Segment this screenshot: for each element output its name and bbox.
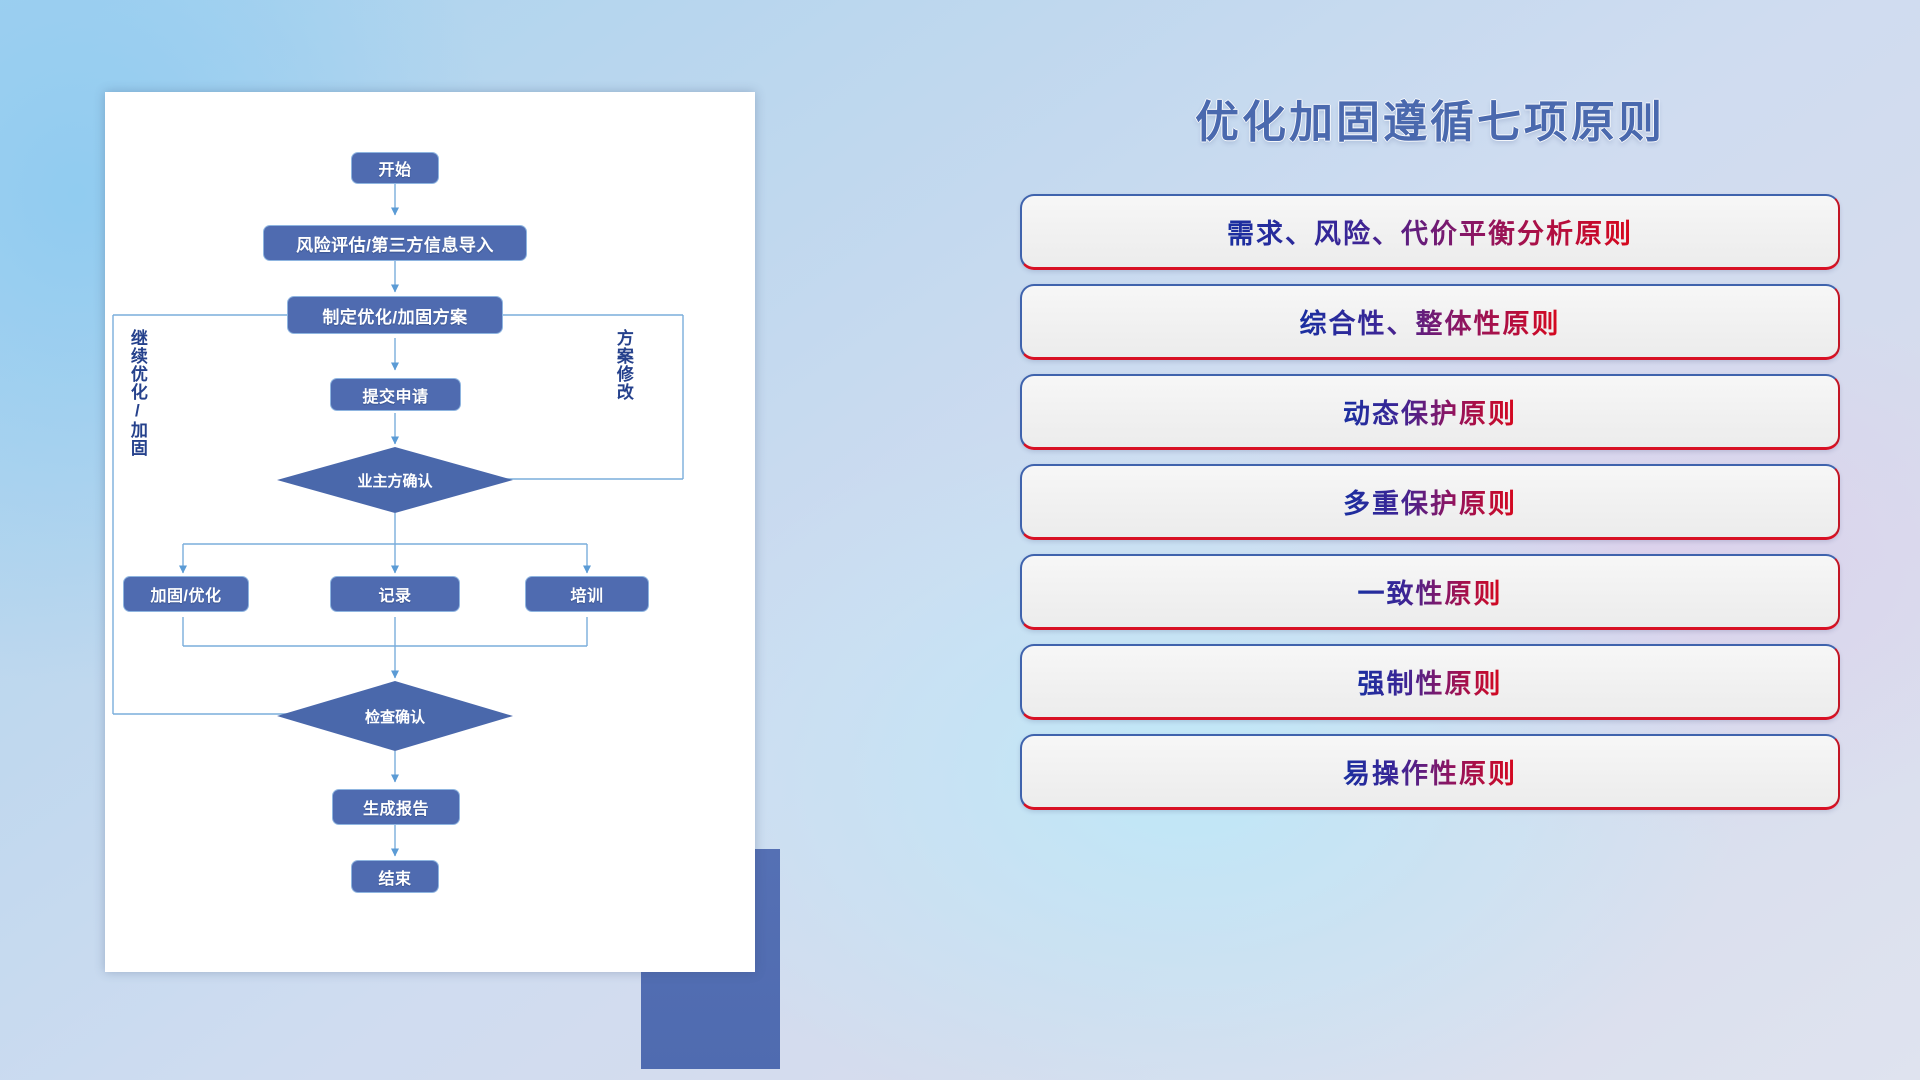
flow-node-training[interactable]: 培训 bbox=[525, 576, 649, 612]
principle-label: 动态保护原则 bbox=[1343, 392, 1517, 431]
flow-node-record[interactable]: 记录 bbox=[330, 576, 460, 612]
flow-edge-label-continue-optimize: 继续优化/加固 bbox=[128, 329, 146, 479]
flow-node-start[interactable]: 开始 bbox=[351, 152, 439, 184]
principles-panel: 优化加固遵循七项原则 需求、风险、代价平衡分析原则 综合性、整体性原则 动态保护… bbox=[1020, 86, 1840, 1026]
flow-node-plan[interactable]: 制定优化/加固方案 bbox=[287, 296, 503, 334]
flow-node-reinforce[interactable]: 加固/优化 bbox=[123, 576, 249, 612]
flow-edge-label-plan-revision: 方案修改 bbox=[614, 329, 632, 449]
flow-node-label: 风险评估/第三方信息导入 bbox=[296, 231, 494, 256]
flow-node-label: 制定优化/加固方案 bbox=[322, 303, 467, 328]
principle-item[interactable]: 综合性、整体性原则 bbox=[1020, 284, 1840, 360]
flow-node-label: 检查确认 bbox=[365, 706, 425, 727]
flow-node-label: 培训 bbox=[570, 582, 603, 606]
principle-item[interactable]: 动态保护原则 bbox=[1020, 374, 1840, 450]
flow-node-label: 结束 bbox=[378, 865, 411, 889]
flow-node-label: 业主方确认 bbox=[357, 470, 432, 491]
flow-node-label: 开始 bbox=[378, 156, 411, 180]
slide-canvas: 开始 风险评估/第三方信息导入 制定优化/加固方案 提交申请 业主方确认 加固/… bbox=[0, 0, 1920, 1080]
principle-label: 一致性原则 bbox=[1358, 572, 1503, 611]
flowchart-connectors bbox=[105, 92, 755, 972]
flowchart-panel: 开始 风险评估/第三方信息导入 制定优化/加固方案 提交申请 业主方确认 加固/… bbox=[105, 92, 785, 972]
principle-item[interactable]: 强制性原则 bbox=[1020, 644, 1840, 720]
principles-list: 需求、风险、代价平衡分析原则 综合性、整体性原则 动态保护原则 多重保护原则 一… bbox=[1020, 194, 1840, 824]
flowchart-canvas: 开始 风险评估/第三方信息导入 制定优化/加固方案 提交申请 业主方确认 加固/… bbox=[105, 92, 755, 972]
flow-node-submit[interactable]: 提交申请 bbox=[330, 378, 461, 411]
principle-label: 强制性原则 bbox=[1358, 662, 1503, 701]
flow-node-risk-assessment[interactable]: 风险评估/第三方信息导入 bbox=[263, 225, 527, 261]
principle-label: 多重保护原则 bbox=[1343, 482, 1517, 521]
flow-node-label: 提交申请 bbox=[362, 383, 428, 407]
flow-node-label: 生成报告 bbox=[363, 795, 429, 819]
principle-label: 易操作性原则 bbox=[1343, 752, 1517, 791]
principle-item[interactable]: 一致性原则 bbox=[1020, 554, 1840, 630]
flow-node-label: 记录 bbox=[378, 582, 411, 606]
principle-item[interactable]: 多重保护原则 bbox=[1020, 464, 1840, 540]
page-title: 优化加固遵循七项原则 bbox=[1020, 86, 1840, 150]
principle-item[interactable]: 易操作性原则 bbox=[1020, 734, 1840, 810]
principle-label: 需求、风险、代价平衡分析原则 bbox=[1227, 212, 1633, 251]
flow-node-end[interactable]: 结束 bbox=[351, 860, 439, 893]
principle-item[interactable]: 需求、风险、代价平衡分析原则 bbox=[1020, 194, 1840, 270]
principle-label: 综合性、整体性原则 bbox=[1300, 302, 1561, 341]
flow-node-label: 加固/优化 bbox=[151, 582, 222, 606]
flow-node-report[interactable]: 生成报告 bbox=[332, 789, 460, 825]
